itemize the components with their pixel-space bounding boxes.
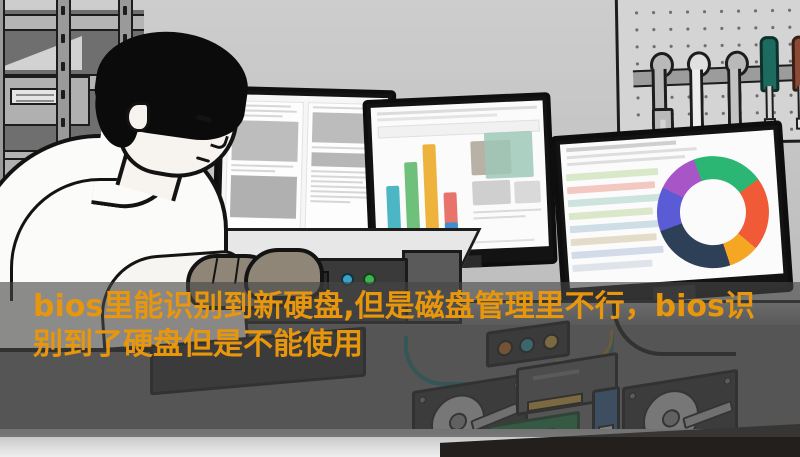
list-item: [568, 194, 662, 208]
technician-ear: [126, 102, 150, 132]
caption-text: bios里能识别到新硬盘,但是磁盘管理里不行，bios识别到了硬盘但是不能使用: [33, 288, 773, 364]
dashboard-card-4: [514, 181, 541, 204]
box-wrench-icon: [723, 51, 746, 129]
illustration-canvas: bios里能识别到新硬盘,但是磁盘管理里不行，bios识别到了硬盘但是不能使用: [0, 0, 800, 457]
analytics-list: [566, 168, 669, 280]
list-item: [567, 181, 655, 194]
list-item: [572, 259, 652, 272]
dashboard-card-2: [484, 131, 534, 179]
ratchet-wrench-icon: [685, 51, 708, 133]
bar-chart: [380, 138, 470, 242]
dashboard-card-3: [472, 180, 511, 206]
open-end-wrench-icon: [647, 52, 672, 130]
screwdriver-brown-icon: [790, 35, 800, 133]
list-item: [571, 246, 663, 259]
list-item: [569, 207, 653, 220]
monitor-right: [550, 120, 793, 308]
list-item: [566, 168, 658, 181]
monitor-right-screen: [560, 130, 784, 289]
bar-c: [422, 144, 439, 239]
list-item: [571, 233, 657, 246]
list-item: [570, 220, 660, 233]
